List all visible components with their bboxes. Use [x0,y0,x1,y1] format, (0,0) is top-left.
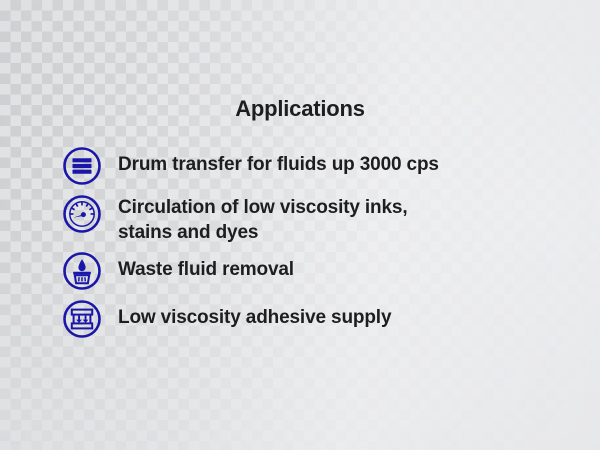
adhesive-press-icon [62,299,102,339]
drum-icon [62,146,102,186]
panel-content: Applications Drum transfer for fluids up… [0,0,600,450]
list-item: Drum transfer for fluids up 3000 cps [62,146,580,186]
page-title: Applications [0,96,600,122]
list-item: Waste fluid removal [62,251,580,291]
list-item-label: Drum transfer for fluids up 3000 cps [118,146,439,177]
viscosity-gauge-icon [62,194,102,234]
list-item-label: Circulation of low viscosity inks, stain… [118,194,407,245]
waste-bin-droplet-icon [62,251,102,291]
applications-panel: Applications Drum transfer for fluids up… [0,0,600,450]
list-item-label: Low viscosity adhesive supply [118,299,391,330]
applications-list: Drum transfer for fluids up 3000 cps [62,146,580,347]
list-item-label: Waste fluid removal [118,251,294,282]
list-item: Low viscosity adhesive supply [62,299,580,339]
list-item: Circulation of low viscosity inks, stain… [62,194,580,245]
